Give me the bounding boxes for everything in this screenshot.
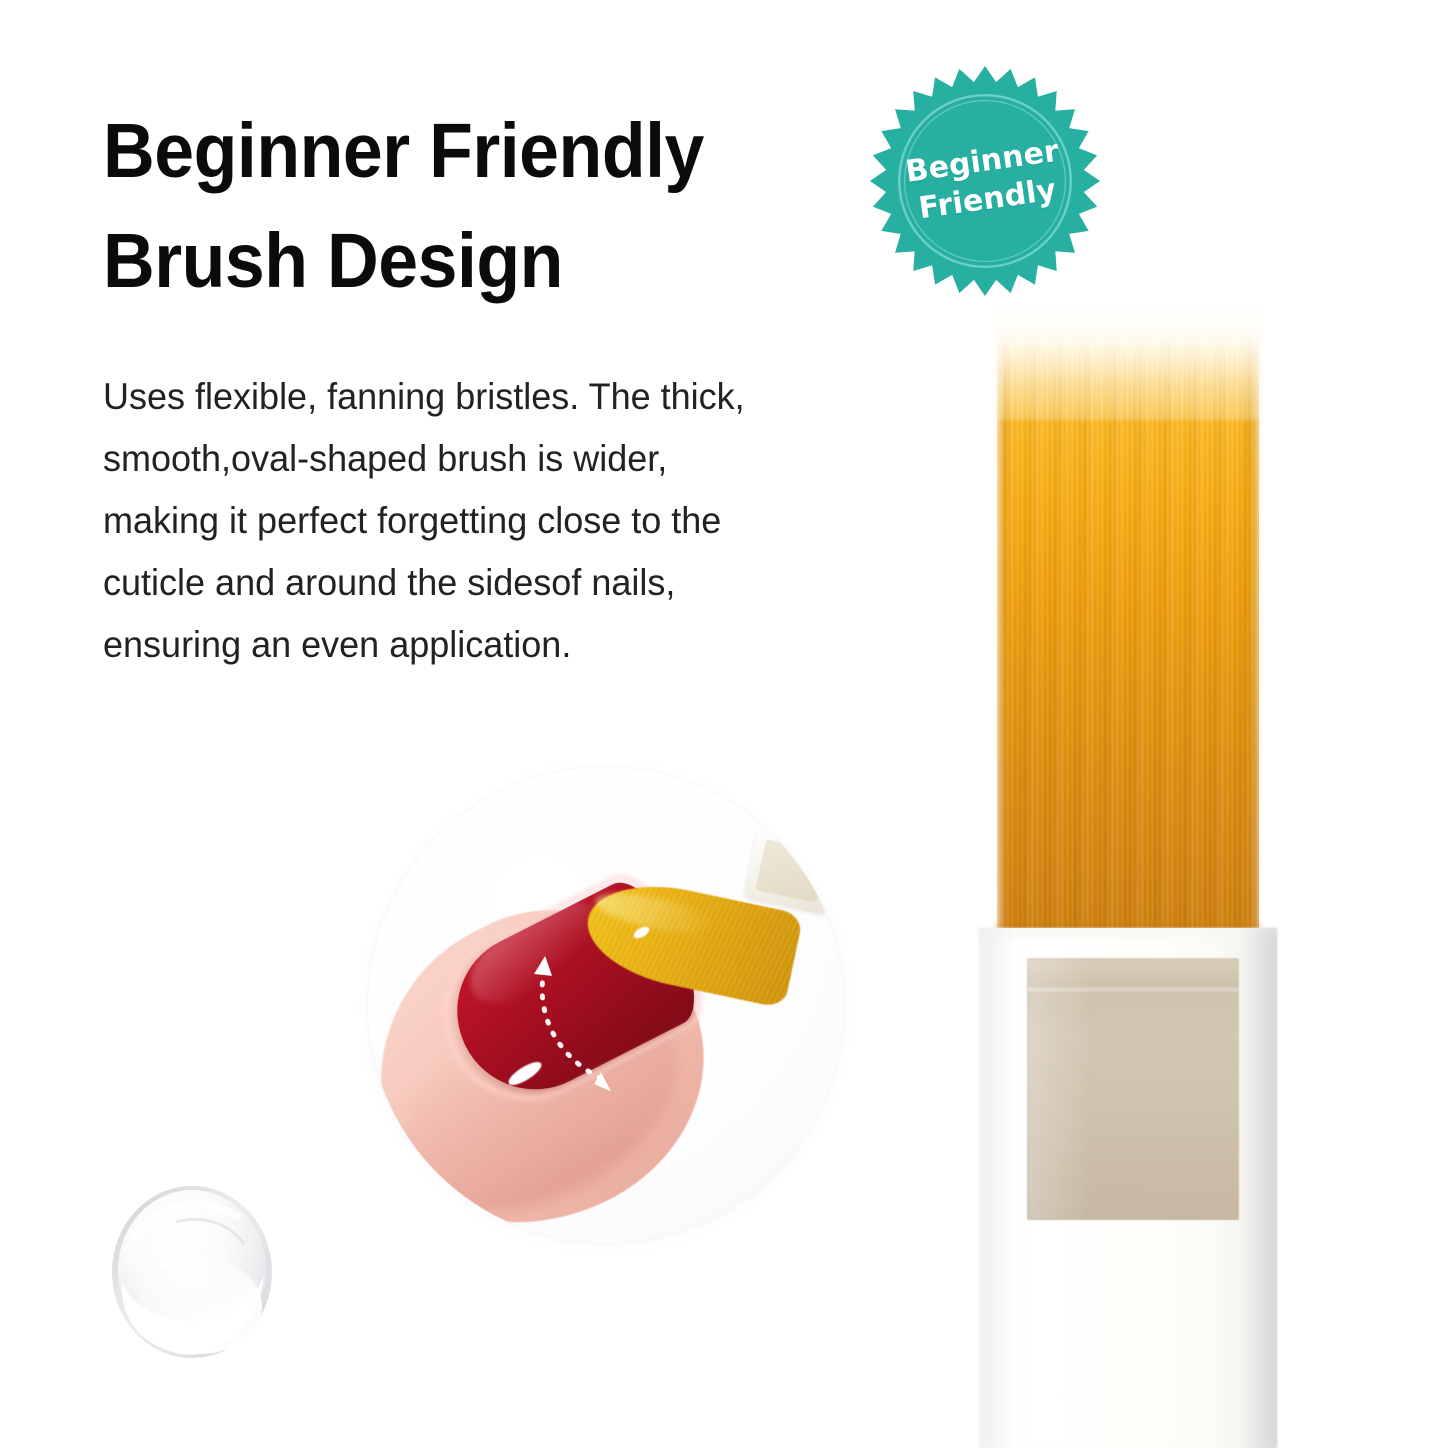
feature-description-line-4: cuticle and around the sidesof nails, [103,551,890,613]
brush-bristles [997,318,1259,963]
bristle-left-edge [995,330,1011,962]
page-title-line-2: Brush Design [103,206,838,316]
feature-description-line-3: making it perfect forgetting close to th… [103,489,890,551]
nail-application-inset [368,767,844,1243]
sweep-direction-arrow [518,952,678,1112]
page-title: Beginner Friendly Brush Design [103,96,838,316]
product-feature-banner: Beginner Friendly Brush Design Uses flex… [0,0,1445,1445]
water-droplet-icon [108,1178,276,1364]
page-title-line-1: Beginner Friendly [103,96,838,206]
water-droplet [108,1178,276,1364]
brush-handle-left-glare [979,928,1013,1448]
feature-description-line-5: ensuring an even application. [103,613,890,675]
beginner-friendly-badge: Beginner Friendly [868,62,1102,300]
dashed-curved-arrow-icon [518,952,678,1112]
starburst-seal-icon [868,62,1102,300]
bristle-right-edge [1243,330,1263,962]
feature-description: Uses flexible, fanning bristles. The thi… [103,365,890,675]
product-brush-image [955,300,1285,1445]
feature-description-line-1: Uses flexible, fanning bristles. The thi… [103,365,890,427]
brush-handle-right-glare [1241,928,1277,1448]
brush-handle-core-sheen [1027,958,1093,1220]
feature-description-line-2: smooth,oval-shaped brush is wider, [103,427,890,489]
brush-handle-top-edge [979,928,1277,942]
